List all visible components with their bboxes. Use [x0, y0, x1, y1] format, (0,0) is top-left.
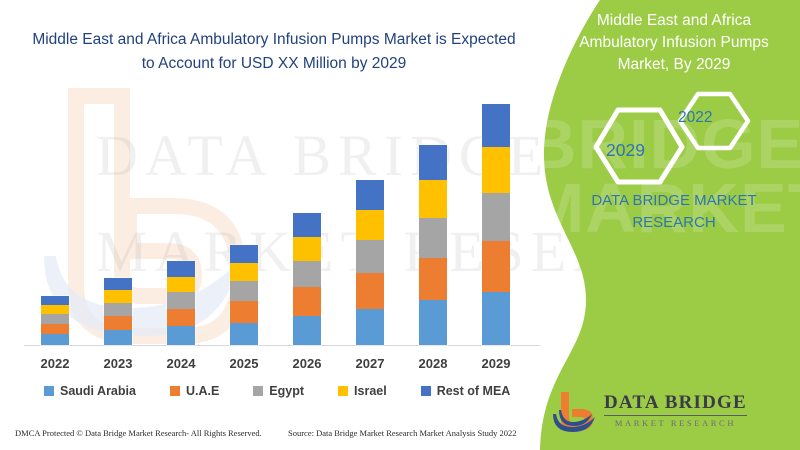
stacked-bar[interactable] — [167, 261, 195, 345]
legend-item-rest-of-mea[interactable]: Rest of MEA — [421, 384, 511, 398]
segment-egypt — [293, 261, 321, 287]
legend-label: U.A.E — [186, 384, 219, 398]
segment-egypt — [230, 281, 258, 301]
segment-rest-of-mea — [419, 145, 447, 180]
segment-rest-of-mea — [293, 213, 321, 237]
data-bridge-b-icon — [552, 390, 598, 434]
segment-uae — [419, 258, 447, 300]
legend-swatch-icon — [170, 386, 180, 396]
legend-label: Saudi Arabia — [60, 384, 136, 398]
segment-egypt — [167, 292, 195, 308]
segment-israel — [230, 263, 258, 282]
x-tick-label: 2027 — [339, 356, 401, 371]
x-tick-label: 2028 — [402, 356, 464, 371]
green-panel-content: BRIDGE MARKET Middle East and Africa Amb… — [540, 0, 800, 450]
segment-egypt — [419, 218, 447, 258]
segment-israel — [104, 290, 132, 303]
segment-saudi-arabia — [482, 292, 510, 345]
chart-area: DATA BRIDGE MARKET RESEARCH Middle East … — [0, 0, 580, 450]
x-tick-label: 2024 — [150, 356, 212, 371]
segment-rest-of-mea — [104, 278, 132, 290]
bar-column-2028[interactable]: 2028 — [402, 86, 464, 345]
hexagon-label-2022: 2022 — [678, 109, 712, 127]
x-tick-label: 2029 — [465, 356, 527, 371]
hexagon-group: 2029 2022 — [570, 88, 770, 186]
legend-item-egypt[interactable]: Egypt — [253, 384, 304, 398]
stacked-bar[interactable] — [41, 296, 69, 345]
x-axis-line — [24, 345, 540, 346]
infographic-canvas: DATA BRIDGE MARKET RESEARCH Middle East … — [0, 0, 800, 450]
x-tick-label: 2022 — [24, 356, 86, 371]
segment-israel — [293, 237, 321, 262]
x-tick-label: 2025 — [213, 356, 275, 371]
segment-uae — [167, 309, 195, 327]
segment-uae — [230, 301, 258, 322]
segment-egypt — [482, 193, 510, 241]
segment-rest-of-mea — [482, 104, 510, 148]
segment-egypt — [356, 240, 384, 273]
segment-saudi-arabia — [356, 309, 384, 346]
segment-uae — [104, 316, 132, 330]
stacked-bar[interactable] — [356, 180, 384, 345]
bar-column-2026[interactable]: 2026 — [276, 86, 338, 345]
panel-brand-name: DATA BRIDGE MARKET RESEARCH — [560, 190, 788, 234]
x-tick-label: 2026 — [276, 356, 338, 371]
legend-item-uae[interactable]: U.A.E — [170, 384, 219, 398]
segment-israel — [167, 277, 195, 292]
segment-saudi-arabia — [104, 330, 132, 345]
stacked-bar[interactable] — [104, 278, 132, 345]
segment-egypt — [41, 314, 69, 323]
segment-rest-of-mea — [167, 261, 195, 276]
panel-title: Middle East and Africa Ambulatory Infusi… — [558, 10, 790, 76]
legend-label: Israel — [354, 384, 387, 398]
legend-swatch-icon — [44, 386, 54, 396]
footer: DMCA Protected © Data Bridge Market Rese… — [0, 424, 580, 450]
stacked-bar[interactable] — [419, 145, 447, 345]
data-bridge-logo[interactable]: DATA BRIDGE MARKET RESEARCH — [552, 388, 792, 438]
chart-legend: Saudi Arabia U.A.E Egypt Israel Rest of … — [44, 381, 544, 401]
segment-israel — [41, 305, 69, 314]
segment-israel — [356, 210, 384, 241]
logo-name: DATA BRIDGE — [604, 392, 747, 416]
legend-item-israel[interactable]: Israel — [338, 384, 387, 398]
legend-swatch-icon — [338, 386, 348, 396]
stacked-bar[interactable] — [482, 104, 510, 345]
segment-uae — [41, 324, 69, 335]
bar-column-2025[interactable]: 2025 — [213, 86, 275, 345]
segment-saudi-arabia — [41, 334, 69, 345]
segment-israel — [419, 180, 447, 218]
bar-column-2023[interactable]: 2023 — [87, 86, 149, 345]
hexagon-label-2029: 2029 — [606, 140, 645, 161]
green-side-panel: BRIDGE MARKET Middle East and Africa Amb… — [540, 0, 800, 450]
segment-rest-of-mea — [41, 296, 69, 305]
legend-label: Rest of MEA — [437, 384, 511, 398]
segment-saudi-arabia — [419, 300, 447, 345]
segment-uae — [356, 273, 384, 308]
bar-column-2024[interactable]: 2024 — [150, 86, 212, 345]
segment-uae — [482, 241, 510, 292]
segment-rest-of-mea — [356, 180, 384, 209]
legend-swatch-icon — [253, 386, 263, 396]
bar-column-2022[interactable]: 2022 — [24, 86, 86, 345]
segment-rest-of-mea — [230, 245, 258, 263]
logo-wordmark: DATA BRIDGE MARKET RESEARCH — [604, 392, 747, 428]
bar-column-2027[interactable]: 2027 — [339, 86, 401, 345]
stacked-bar[interactable] — [230, 245, 258, 345]
legend-item-saudi-arabia[interactable]: Saudi Arabia — [44, 384, 136, 398]
stacked-bar-chart: 2022 2023 — [24, 86, 540, 346]
page-title: Middle East and Africa Ambulatory Infusi… — [24, 28, 524, 76]
legend-label: Egypt — [269, 384, 304, 398]
segment-egypt — [104, 303, 132, 316]
bar-column-2029[interactable]: 2029 — [465, 86, 527, 345]
segment-israel — [482, 147, 510, 193]
segment-saudi-arabia — [230, 323, 258, 345]
x-tick-label: 2023 — [87, 356, 149, 371]
stacked-bar[interactable] — [293, 213, 321, 345]
segment-saudi-arabia — [293, 316, 321, 345]
segment-saudi-arabia — [167, 326, 195, 345]
logo-tagline: MARKET RESEARCH — [604, 418, 747, 428]
segment-uae — [293, 287, 321, 315]
source-note: Source: Data Bridge Market Research Mark… — [288, 428, 517, 438]
dmca-notice: DMCA Protected © Data Bridge Market Rese… — [15, 428, 262, 438]
legend-swatch-icon — [421, 386, 431, 396]
